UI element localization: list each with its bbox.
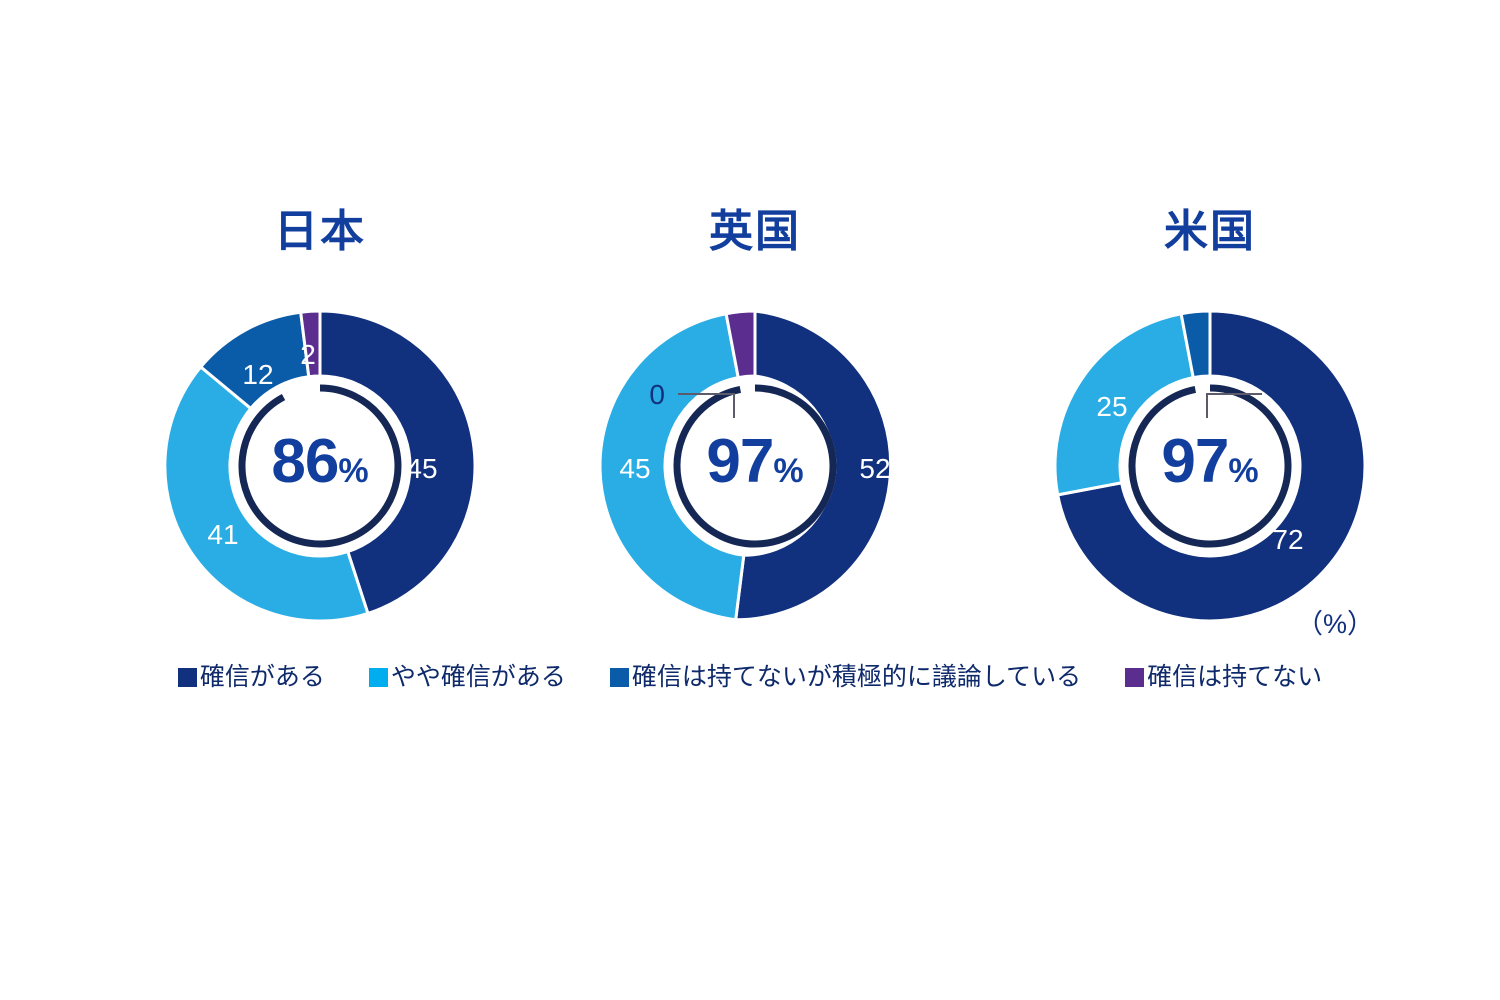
- value-label-japan-discussing: 12: [242, 359, 273, 390]
- value-label-japan-somewhat: 41: [207, 519, 238, 550]
- progress-ring-japan: [242, 388, 398, 544]
- legend-swatch-icon-somewhat-confident: [369, 668, 388, 687]
- legend-swatch-icon-not-confident: [1125, 668, 1144, 687]
- value-label-uk-somewhat: 45: [619, 453, 650, 484]
- value-label-uk-zero: 0: [649, 379, 665, 410]
- unit-label-percent: （%）: [1296, 602, 1374, 641]
- value-label-us-discussing: 3: [1182, 401, 1198, 432]
- donut-svg-us: 0 72 25 3: [1000, 286, 1420, 646]
- chart-legend: 確信がある やや確信がある 確信は持てないが積極的に議論している 確信は持てない: [0, 665, 1500, 690]
- chart-panel-japan: 日本 45 41 12: [110, 210, 530, 646]
- value-label-uk-notconfident: 3: [734, 403, 750, 434]
- chart-canvas: 日本 45 41 12: [0, 0, 1500, 1000]
- progress-ring-uk: [677, 388, 833, 544]
- legend-label-confident: 確信がある: [200, 665, 325, 690]
- donut-uk: 0 52 45 3 97%: [545, 286, 965, 646]
- donut-us: 0 72 25 3 97%: [1000, 286, 1420, 646]
- donut-japan: 45 41 12 2 86%: [110, 286, 530, 646]
- legend-swatch-icon-discussing: [610, 668, 629, 687]
- donut-svg-japan: 45 41 12 2: [110, 286, 530, 646]
- value-label-us-confident: 72: [1272, 524, 1303, 555]
- chart-panel-uk: 英国 0 52 45: [545, 210, 965, 646]
- progress-ring-us: [1132, 388, 1288, 544]
- legend-label-somewhat-confident: やや確信がある: [391, 665, 566, 690]
- legend-item-somewhat-confident[interactable]: やや確信がある: [369, 665, 566, 690]
- legend-swatch-icon-confident: [178, 668, 197, 687]
- value-label-japan-notconfident: 2: [300, 339, 316, 370]
- legend-item-not-confident[interactable]: 確信は持てない: [1125, 665, 1322, 690]
- value-label-uk-confident: 52: [859, 453, 890, 484]
- legend-item-confident[interactable]: 確信がある: [178, 665, 325, 690]
- value-label-us-zero: 0: [1274, 379, 1290, 410]
- chart-panel-us: 米国 0 72 25: [1000, 210, 1420, 646]
- value-label-japan-confident: 45: [406, 453, 437, 484]
- legend-label-discussing: 確信は持てないが積極的に議論している: [632, 665, 1081, 690]
- chart-title-us: 米国: [1000, 210, 1420, 262]
- legend-label-not-confident: 確信は持てない: [1147, 665, 1322, 690]
- donut-svg-uk: 0 52 45 3: [545, 286, 965, 646]
- chart-title-japan: 日本: [110, 210, 530, 262]
- chart-title-uk: 英国: [545, 210, 965, 262]
- legend-item-discussing[interactable]: 確信は持てないが積極的に議論している: [610, 665, 1081, 690]
- value-label-us-somewhat: 25: [1096, 391, 1127, 422]
